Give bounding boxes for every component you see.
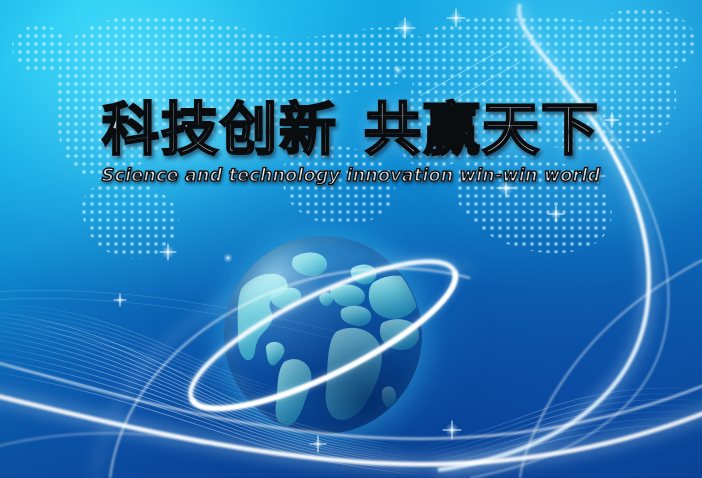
globe-rim xyxy=(224,236,422,434)
earth-globe xyxy=(224,236,422,434)
poster-canvas: 科技创新共赢天下 Science and technology innovati… xyxy=(0,0,702,478)
title-cn-right: 共赢天下 xyxy=(364,97,600,163)
title-cn-left: 科技创新 xyxy=(102,97,338,163)
page-subtitle: Science and technology innovation win-wi… xyxy=(0,166,702,186)
page-title: 科技创新共赢天下 xyxy=(0,102,702,159)
